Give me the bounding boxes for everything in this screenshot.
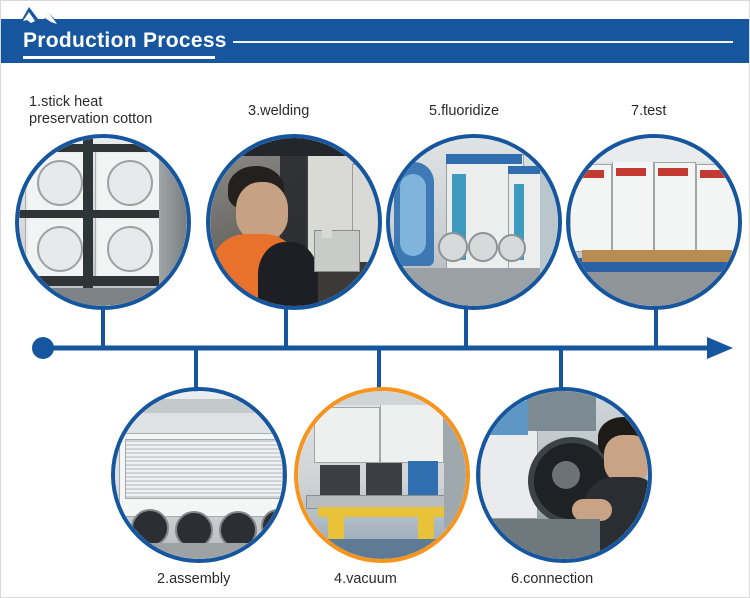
step-1-caption: 1.stick heat preservation cotton <box>29 94 199 128</box>
step-2-caption: 2.assembly <box>157 571 327 588</box>
step-6-photo-bubble[interactable] <box>476 387 652 563</box>
step-7-caption: 7.test <box>631 103 750 120</box>
header-rule <box>233 41 733 43</box>
step-7-photo-bubble[interactable] <box>566 134 742 310</box>
step-5-caption: 5.fluoridize <box>429 103 579 120</box>
timeline-start-dot-icon <box>32 337 54 359</box>
assembly-photo <box>115 391 283 559</box>
welding-photo <box>210 138 378 306</box>
step-6-caption: 6.connection <box>511 571 691 588</box>
title-underline <box>23 56 215 59</box>
timeline-arrow-icon <box>707 337 733 359</box>
header: Production Process <box>1 1 750 63</box>
step-5-photo-bubble[interactable] <box>386 134 562 310</box>
step-1-photo-bubble[interactable] <box>15 134 191 310</box>
production-process-infographic: Production Process <box>0 0 750 598</box>
step-2-photo-bubble[interactable] <box>111 387 287 563</box>
step-4-photo-bubble[interactable] <box>294 387 470 563</box>
vacuum-photo <box>298 391 466 559</box>
page-title: Production Process <box>23 29 227 53</box>
step-4-caption: 4.vacuum <box>334 571 494 588</box>
connection-photo <box>480 391 648 559</box>
fluoridize-photo <box>390 138 558 306</box>
test-photo <box>570 138 738 306</box>
step-3-photo-bubble[interactable] <box>206 134 382 310</box>
step-3-caption: 3.welding <box>248 103 398 120</box>
stick-heat-preservation-cotton-photo <box>19 138 187 306</box>
